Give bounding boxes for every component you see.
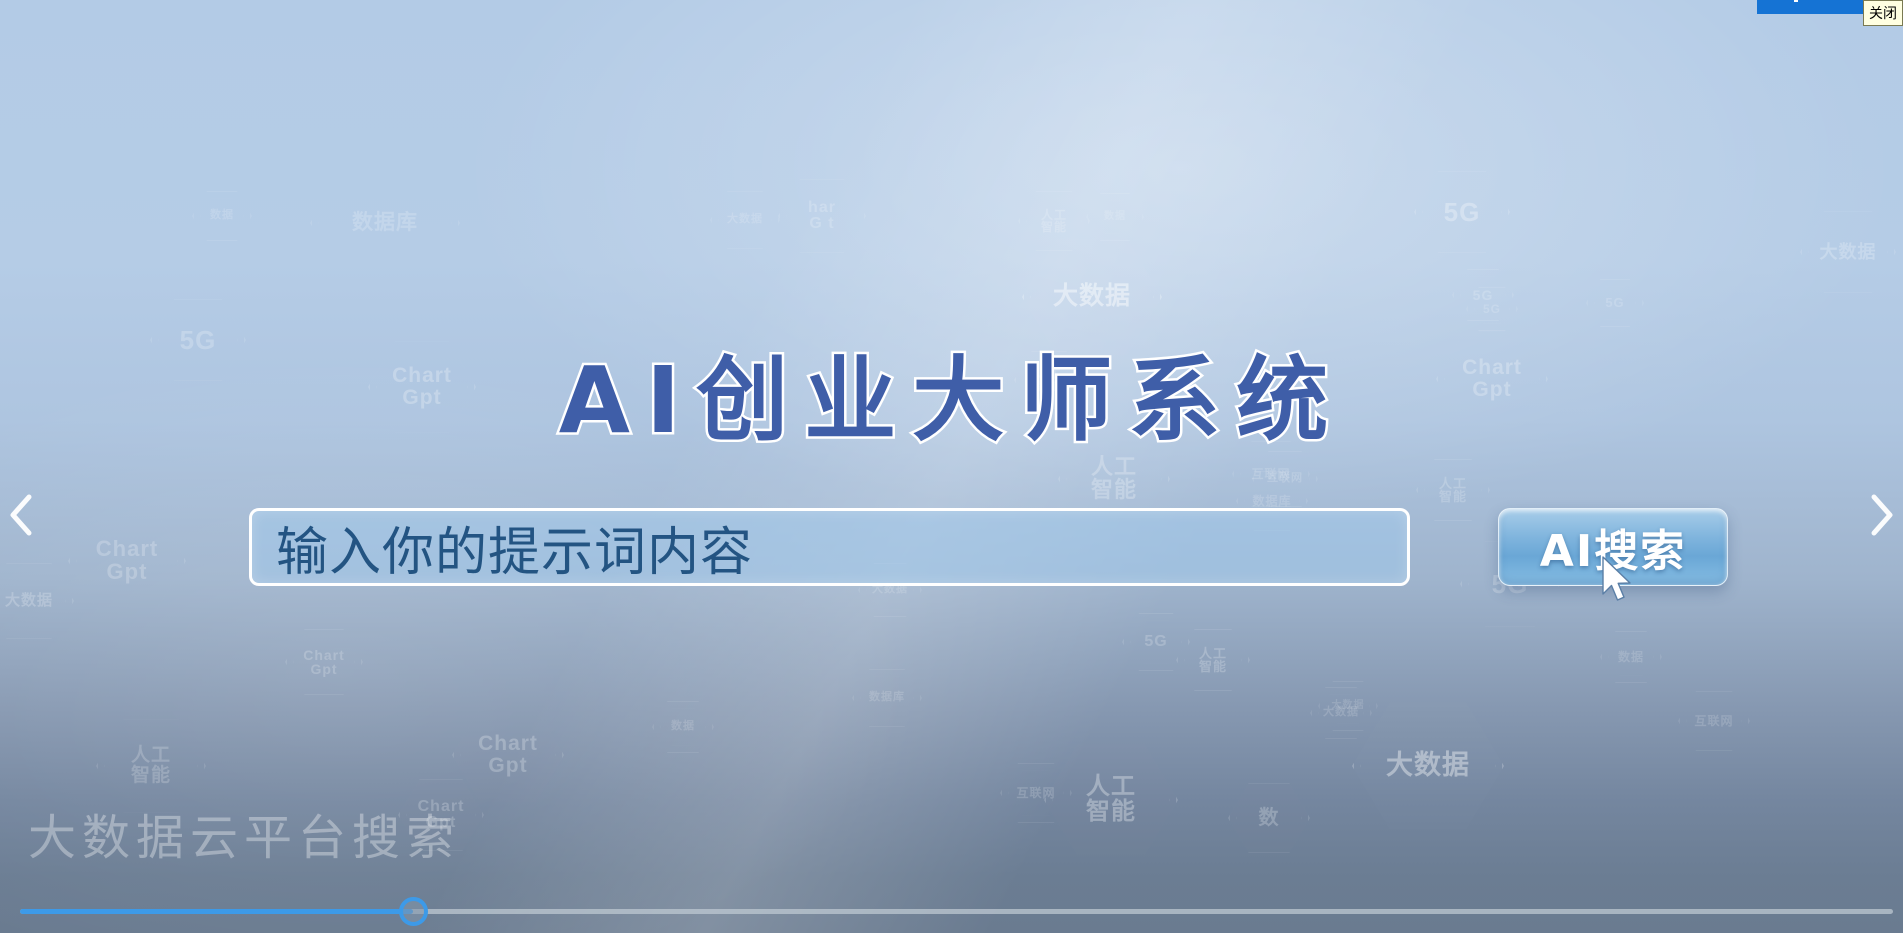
chrome-dot	[1794, 0, 1798, 2]
hex-decoration: har G t	[778, 178, 866, 254]
hex-decoration: 大数据	[0, 562, 74, 640]
slideshow-stage: 数据库数据5GChart GptChart Gpt大数据Chart GptCha…	[0, 0, 1903, 933]
hex-decoration-label: 5G	[1483, 303, 1501, 315]
hex-decoration: 数据	[1600, 630, 1662, 684]
hex-decoration: Chart Gpt	[285, 628, 363, 696]
hex-decoration: 数据	[652, 700, 714, 754]
hex-decoration-label: 人工 智能	[1439, 477, 1467, 504]
hex-decoration-label: 大数据	[5, 593, 53, 608]
hex-decoration-label: 人工 智能	[1086, 775, 1136, 824]
hex-decoration-label: Chart Gpt	[96, 538, 158, 583]
hex-decoration-label: 人工 智能	[131, 746, 171, 785]
hex-decoration: Chart Gpt	[68, 510, 186, 612]
hex-decoration: 大数据	[1352, 700, 1504, 832]
hex-decoration-label: 人工 智能	[1041, 209, 1067, 234]
hex-decoration-label: 数据	[1618, 651, 1644, 663]
hex-decoration-label: 人工 智能	[1091, 456, 1137, 501]
hex-decoration-label: 数	[1259, 808, 1280, 829]
light-sheen-overlay	[0, 0, 1903, 933]
close-tooltip: 关闭	[1863, 0, 1903, 26]
hex-decoration-label: 大数据	[727, 214, 763, 225]
hex-decoration: 5G	[1414, 170, 1510, 254]
hex-decoration-label: 大数据	[1386, 752, 1470, 780]
hex-decoration-label: 人工 智能	[1199, 647, 1227, 674]
hex-decoration: 大数据	[710, 190, 780, 250]
hex-decoration-label: 大数据	[1053, 284, 1131, 310]
hex-decoration-label: 大数据	[1820, 243, 1877, 262]
prompt-placeholder: 输入你的提示词内容	[276, 510, 753, 585]
hex-decoration-label: 数据	[671, 721, 695, 732]
hex-decoration: 大数据	[1800, 210, 1896, 294]
progress-slider[interactable]	[0, 889, 1903, 933]
hex-decoration: 5G	[1586, 278, 1644, 328]
hex-decoration-label: 数据	[210, 210, 234, 221]
hex-decoration: 数据	[1086, 192, 1144, 242]
hex-decoration-label: 5G	[1144, 634, 1167, 650]
hex-decoration-label: 互联网	[1267, 473, 1303, 484]
hex-decoration-label: 5G	[1605, 296, 1624, 309]
hex-decoration-label: 数据库	[869, 692, 905, 703]
hex-decoration-label: Chart Gpt	[303, 648, 345, 677]
hex-decoration-label: 大数据	[1332, 701, 1365, 711]
chevron-left-icon	[8, 493, 36, 537]
platform-watermark: 大数据云平台搜索	[28, 798, 460, 868]
search-row: 输入你的提示词内容 AI搜索	[249, 508, 1728, 586]
top-blue-bar	[1757, 0, 1872, 14]
hex-decoration: 数据	[192, 190, 252, 242]
page-title: AI创业大师系统	[0, 326, 1903, 459]
ai-search-button[interactable]: AI搜索	[1498, 508, 1728, 586]
hex-decoration-label: Chart Gpt	[478, 733, 538, 776]
hex-decoration-label: 互联网	[1694, 715, 1733, 727]
slider-handle[interactable]	[399, 897, 428, 926]
hex-decoration: Chart Gpt	[452, 706, 564, 804]
ai-search-button-label: AI搜索	[1540, 515, 1686, 579]
hex-decoration: 数	[1228, 782, 1310, 854]
hex-decoration-label: 5G	[1444, 199, 1481, 226]
next-slide-button[interactable]	[1861, 489, 1901, 541]
prev-slide-button[interactable]	[2, 489, 42, 541]
hex-decoration-label: 数据库	[352, 212, 418, 234]
prompt-input[interactable]: 输入你的提示词内容	[249, 508, 1410, 586]
chevron-right-icon	[1867, 493, 1895, 537]
hex-decoration-label: 互联网	[1016, 787, 1055, 799]
hex-decoration-label: 大数据	[872, 584, 908, 595]
hex-decoration-label: har G t	[808, 200, 836, 233]
hex-decoration-label: 数据	[1104, 212, 1126, 222]
hex-decoration: 互联网	[1678, 690, 1750, 752]
hex-decoration: 数据库	[852, 668, 922, 728]
slider-fill	[20, 909, 413, 914]
hex-decoration: 数据库	[310, 158, 460, 288]
